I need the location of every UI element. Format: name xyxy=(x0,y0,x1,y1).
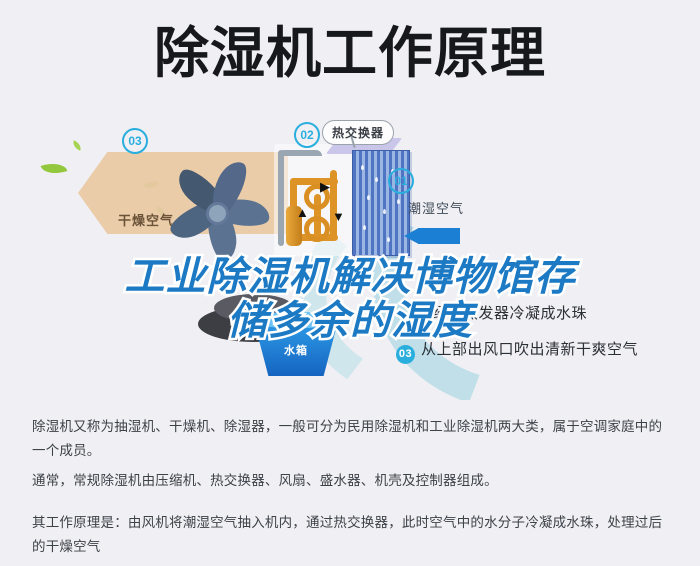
heat-exchanger-fins xyxy=(352,150,410,256)
pipe-segment xyxy=(330,170,337,240)
fan-hub xyxy=(206,202,229,225)
step-02-text: 经过蒸发器冷凝成水珠 xyxy=(432,305,587,322)
badge-02: 02 xyxy=(294,122,320,148)
fan-icon xyxy=(168,156,280,260)
pipe-segment xyxy=(278,150,322,156)
leaf-icon xyxy=(71,140,83,150)
water-tank: 水箱 xyxy=(250,320,342,376)
compressor-coil-assembly: ▶ ▲ ▼ xyxy=(274,144,358,256)
badge-03: 03 xyxy=(122,128,148,154)
diagram-illustration: 干燥空气 03 ▶ ▲ ▼ xyxy=(0,120,700,400)
heat-exchanger-callout: 热交换器 xyxy=(322,120,394,145)
flow-arrow-up-icon: ▲ xyxy=(296,206,309,219)
step-03-text: 从上部出风口吹出清新干爽空气 xyxy=(421,341,638,358)
dry-air-label: 干燥空气 xyxy=(118,210,174,229)
humid-air-label: 潮湿空气 xyxy=(408,198,464,217)
paragraph-1-line-2: 通常，常规除湿机由压缩机、热交换器、风扇、盛水器、机壳及控制器组成。 xyxy=(32,469,672,493)
flow-arrow-down-icon: ▼ xyxy=(332,210,345,223)
page-title: 除湿机工作原理 xyxy=(0,22,700,84)
page-title-part1: 除湿机 xyxy=(154,22,322,84)
page-root: 除湿机工作原理 干燥空气 03 xyxy=(0,0,700,566)
water-tank-rim xyxy=(252,312,340,328)
leaf-icon xyxy=(41,159,68,179)
badge-01: 01 xyxy=(388,168,414,194)
step-02-line: 经过蒸发器冷凝成水珠 xyxy=(432,302,587,323)
page-title-part2: 工作原理 xyxy=(322,22,546,84)
pipe-segment xyxy=(278,150,284,246)
flow-arrow-right-icon: ▶ xyxy=(320,180,330,193)
body-copy: 除湿机又称为抽湿机、干燥机、除湿器，一般可分为民用除湿机和工业除湿机两大类，属于… xyxy=(32,415,672,566)
paragraph-2-line-1: 其工作原理是：由风机将潮湿空气抽入机内，通过热交换器，此时空气中的水分子冷凝成水… xyxy=(32,511,672,559)
step-03-line: 03从上部出风口吹出清新干爽空气 xyxy=(396,338,638,364)
paragraph-1-line-1: 除湿机又称为抽湿机、干燥机、除湿器，一般可分为民用除湿机和工业除湿机两大类，属于… xyxy=(32,415,672,463)
step-03-badge: 03 xyxy=(396,345,415,364)
water-tank-label: 水箱 xyxy=(250,342,342,358)
